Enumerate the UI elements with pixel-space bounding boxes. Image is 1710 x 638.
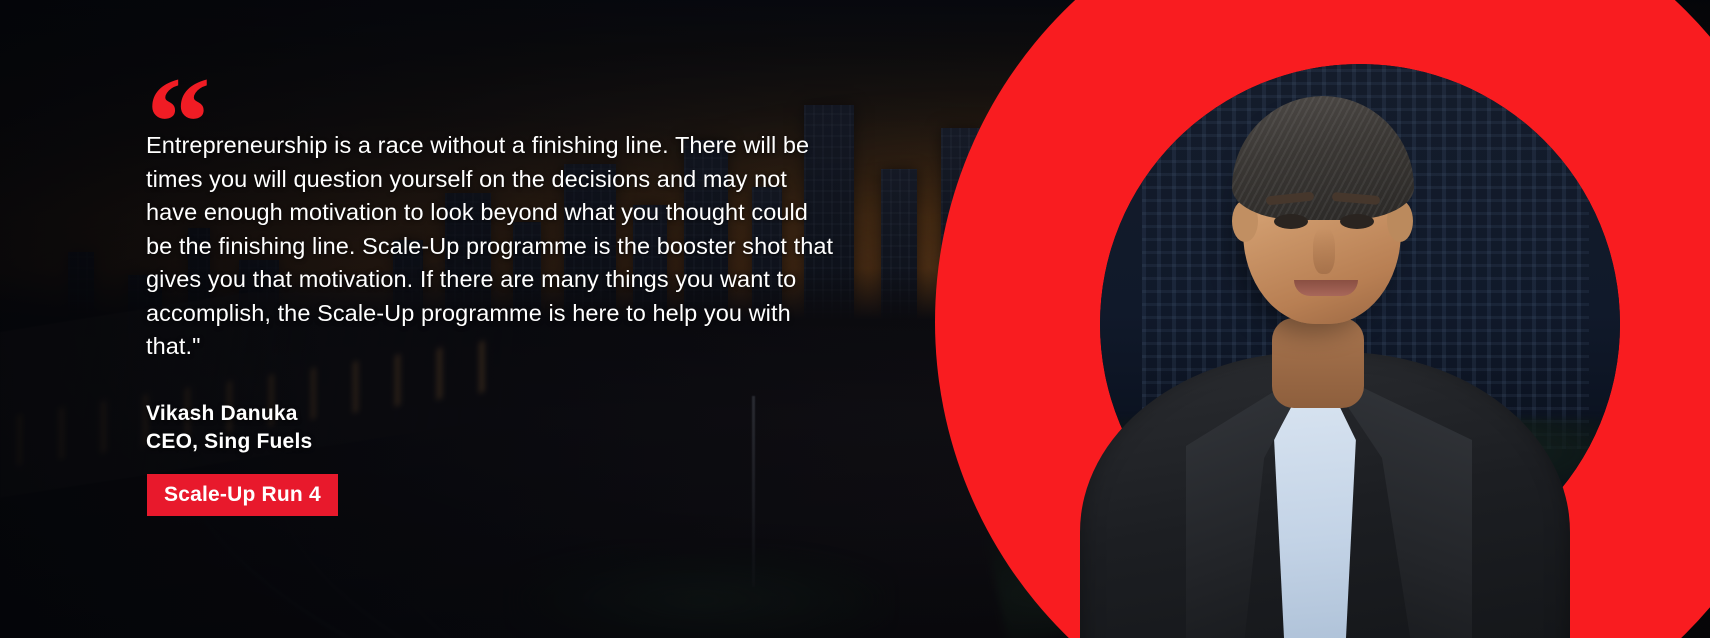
neck — [1272, 318, 1364, 408]
nose — [1313, 228, 1335, 274]
author-role: CEO, Sing Fuels — [146, 428, 312, 456]
mouth — [1294, 280, 1358, 296]
quote-text: Entrepreneurship is a race without a fin… — [146, 129, 836, 364]
portrait-subject — [1010, 22, 1630, 638]
programme-badge[interactable]: Scale-Up Run 4 — [147, 474, 338, 516]
portrait — [1010, 22, 1630, 638]
attribution: Vikash Danuka CEO, Sing Fuels — [146, 400, 312, 456]
hair — [1232, 96, 1414, 220]
author-name: Vikash Danuka — [146, 400, 312, 428]
testimonial-content: “ Entrepreneurship is a race without a f… — [146, 0, 846, 638]
testimonial-banner: “ Entrepreneurship is a race without a f… — [0, 0, 1710, 638]
eye-left — [1274, 214, 1308, 229]
eye-right — [1340, 214, 1374, 229]
